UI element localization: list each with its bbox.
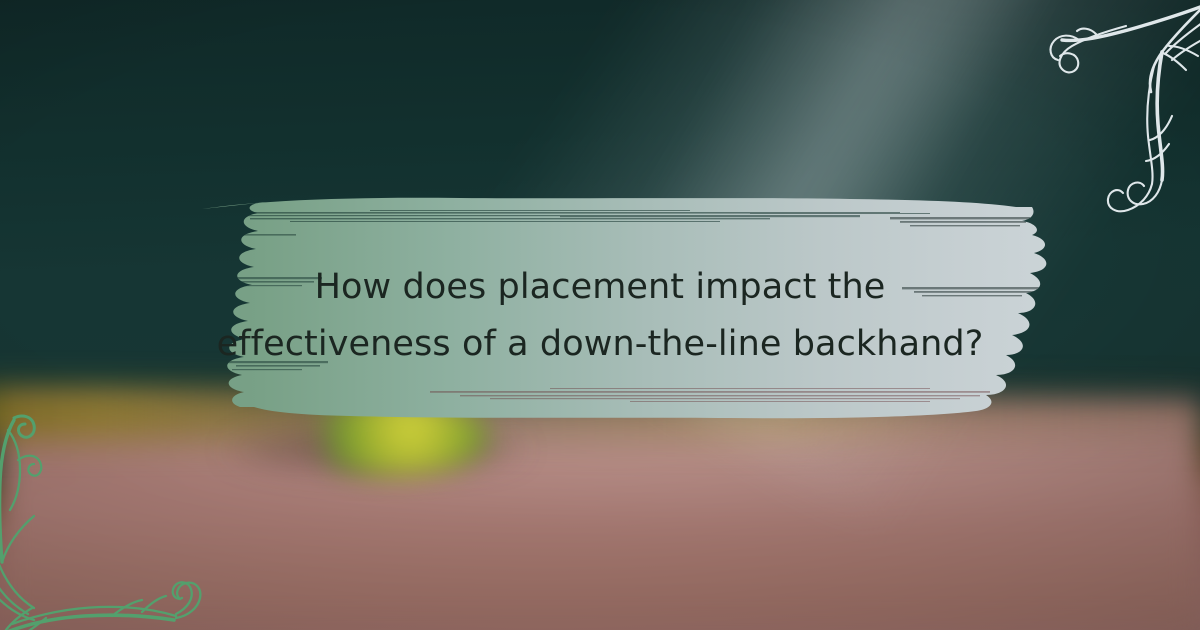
share-card: How does placement impact the effectiven…	[0, 0, 1200, 630]
question-heading: How does placement impact the effectiven…	[130, 259, 1070, 372]
corner-flourish-bottom-left-icon	[0, 412, 228, 630]
brush-stroke-banner: How does placement impact the effectiven…	[130, 185, 1070, 435]
